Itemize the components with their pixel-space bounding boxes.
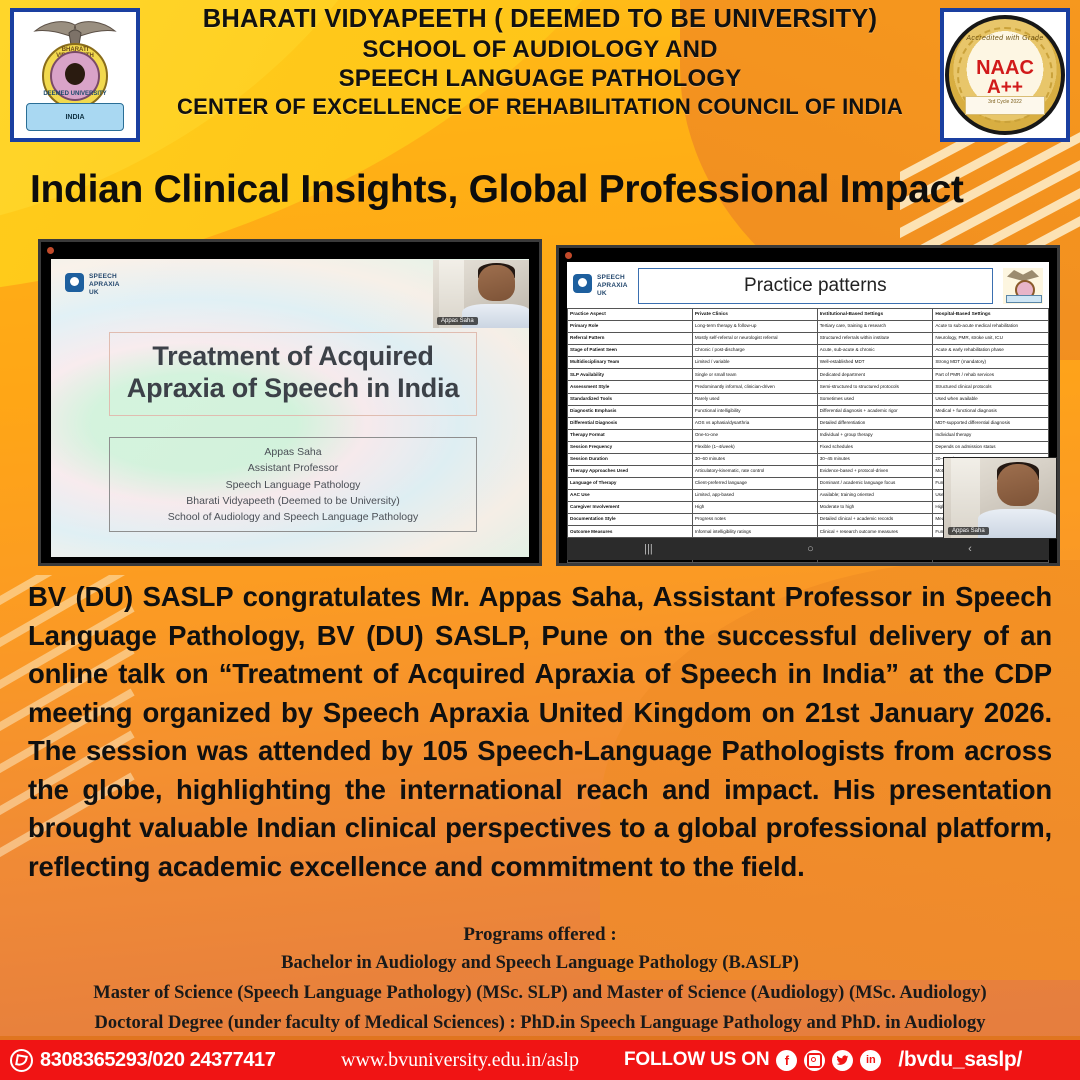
poster-footer: 8308365293/020 24377417 www.bvuniversity… <box>0 1040 1080 1080</box>
webcam-person-body <box>978 509 1057 538</box>
bharati-vidyapeeth-seal-icon <box>1003 268 1043 304</box>
right-presentation-screenshot: SPEECH APRAXIA UK Practice patterns Prac… <box>556 245 1060 566</box>
table-cell: Semi-structured to structured protocols <box>817 381 933 393</box>
webcam-person-head <box>997 464 1040 506</box>
table-header-cell: Hospital-Based Settings <box>933 309 1049 321</box>
speech-bubble-icon <box>65 273 84 292</box>
table-cell: One-to-one <box>692 429 817 441</box>
table-cell: Caregiver Involvement <box>568 502 693 514</box>
table-cell: Moderate to high <box>817 502 933 514</box>
presenter-designation: Assistant Professor <box>114 460 472 476</box>
table-cell: Diagnostic Emphasis <box>568 405 693 417</box>
table-row: Diagnostic EmphasisFunctional intelligib… <box>568 405 1049 417</box>
linkedin-icon[interactable]: in <box>860 1050 881 1071</box>
program-item-masters: Master of Science (Speech Language Patho… <box>40 979 1040 1009</box>
presenter-school: School of Audiology and Speech Language … <box>114 509 472 525</box>
twitter-bird-glyph <box>836 1054 849 1067</box>
footer-phone-number: 8308365293/020 24377417 <box>40 1049 276 1072</box>
footer-phone-block[interactable]: 8308365293/020 24377417 <box>0 1049 310 1072</box>
phone-icon <box>10 1049 33 1072</box>
bharati-vidyapeeth-seal-icon: BHARATI VIDYAPEETH DEEMED UNIVERSITY IND… <box>23 17 127 133</box>
table-cell: Assessment Style <box>568 381 693 393</box>
table-cell: Therapy Approaches Used <box>568 466 693 478</box>
presenter-name: Appas Saha <box>114 444 472 460</box>
table-cell: Rarely used <box>692 393 817 405</box>
table-cell: Used when available <box>933 393 1049 405</box>
table-cell: Low/subsidized <box>817 562 933 566</box>
naac-badge-icon: Accredited with Grade NAAC A++ 3rd Cycle… <box>945 15 1065 135</box>
header-line-3: SPEECH LANGUAGE PATHOLOGY <box>150 64 930 93</box>
table-cell: Differential Diagnosis <box>568 417 693 429</box>
slide-presenter-box: Appas Saha Assistant Professor Speech La… <box>109 437 477 532</box>
table-cell: Detailed differentiation <box>817 417 933 429</box>
footer-follow-block: FOLLOW US ON f in /bvdu_saslp/ <box>610 1048 1022 1072</box>
table-header-cell: Practice Aspect <box>568 309 693 321</box>
table-cell: Acute to sub-acute medical rehabilitatio… <box>933 321 1049 333</box>
table-header-cell: Private Clinics <box>692 309 817 321</box>
table-cell: Session Frequency <box>568 441 693 453</box>
table-cell: Session Duration <box>568 453 693 465</box>
naac-scroll-text: 3rd Cycle 2022 <box>965 96 1045 115</box>
table-cell: Limited, app-based <box>692 490 817 502</box>
header-line-2: SCHOOL OF AUDIOLOGY AND <box>150 35 930 64</box>
table-cell: Dedicated department <box>817 369 933 381</box>
table-cell: Individual + group therapy <box>817 429 933 441</box>
table-cell: Flexible (1–4/week) <box>692 441 817 453</box>
webcam-door <box>951 458 980 538</box>
table-cell: Clinical + research outcome measures <box>817 526 933 538</box>
table-cell: Part of PMR / rehab services <box>933 369 1049 381</box>
speech-apraxia-uk-logo: SPEECH APRAXIA UK <box>573 274 628 298</box>
header-line-4: CENTER OF EXCELLENCE OF REHABILITATION C… <box>150 94 930 121</box>
table-cell: AOS vs aphasia/dysarthria <box>692 417 817 429</box>
right-slide-header: SPEECH APRAXIA UK Practice patterns <box>567 262 1049 308</box>
university-logo-frame: BHARATI VIDYAPEETH DEEMED UNIVERSITY IND… <box>10 8 140 142</box>
left-screenshot-topbar <box>41 242 539 259</box>
table-cell: Stage of Patient Seen <box>568 345 693 357</box>
poster-header: BHARATI VIDYAPEETH DEEMED UNIVERSITY IND… <box>0 0 1080 145</box>
naac-top-text: Accredited with Grade <box>949 35 1061 42</box>
programs-offered-section: Programs offered : Bachelor in Audiology… <box>40 920 1040 1039</box>
home-button-icon[interactable]: ○ <box>807 543 814 555</box>
presenter-webcam-tile: Appas Saha <box>433 260 529 328</box>
header-line-1: BHARATI VIDYAPEETH ( DEEMED TO BE UNIVER… <box>150 4 930 35</box>
table-cell: SLP Availability <box>568 369 693 381</box>
presenter-department: Speech Language Pathology <box>114 477 472 493</box>
webcam-nameplate: Appas Saha <box>948 527 989 535</box>
table-row: SLP AvailabilitySingle or small teamDedi… <box>568 369 1049 381</box>
program-item-doctoral: Doctoral Degree (under faculty of Medica… <box>40 1009 1040 1039</box>
table-cell: Evidence-based + protocol-driven <box>817 466 933 478</box>
table-cell: Long-term therapy & follow-up <box>692 321 817 333</box>
poster-main-title: Indian Clinical Insights, Global Profess… <box>30 160 1060 220</box>
table-cell: Differential diagnosis + academic rigor <box>817 405 933 417</box>
recording-indicator-icon <box>565 252 572 259</box>
table-cell: Documentation Style <box>568 514 693 526</box>
table-row: Cost to PatientHighest, session-basedLow… <box>568 562 1049 566</box>
slide-title-box: Treatment of Acquired Apraxia of Speech … <box>109 332 477 416</box>
table-cell: Language of Therapy <box>568 478 693 490</box>
table-cell: Single or small team <box>692 369 817 381</box>
right-screenshot-topbar <box>559 248 1057 262</box>
table-cell: Therapy Format <box>568 429 693 441</box>
table-row: Stage of Patient SeenChronic / post-disc… <box>568 345 1049 357</box>
table-cell: Functional intelligibility <box>692 405 817 417</box>
table-row: Session FrequencyFlexible (1–4/week)Fixe… <box>568 441 1049 453</box>
instagram-icon[interactable] <box>804 1050 825 1071</box>
table-cell: Tertiary care, training & research <box>817 321 933 333</box>
table-cell: Medical + functional diagnosis <box>933 405 1049 417</box>
seal-ribbon: INDIA <box>26 103 124 131</box>
table-cell: Dominant / academic language focus <box>817 478 933 490</box>
table-cell: Mostly self-referral or neurologist refe… <box>692 333 817 345</box>
table-cell: Neurology, PMR, stroke unit, ICU <box>933 333 1049 345</box>
naac-logo-frame: Accredited with Grade NAAC A++ 3rd Cycle… <box>940 8 1070 142</box>
table-row: Referral PatternMostly self-referral or … <box>568 333 1049 345</box>
table-cell: Fixed schedules <box>817 441 933 453</box>
seal-arc-bottom: DEEMED UNIVERSITY <box>38 91 112 97</box>
slide-title-line-2: Apraxia of Speech in India <box>116 373 470 405</box>
webcam-person-head <box>478 265 514 300</box>
table-cell: Individual therapy <box>933 429 1049 441</box>
table-cell: Multidisciplinary Team <box>568 357 693 369</box>
table-cell: Detailed clinical + academic records <box>817 514 933 526</box>
speech-apraxia-uk-logo: SPEECH APRAXIA UK <box>65 273 120 297</box>
footer-website-url[interactable]: www.bvuniversity.edu.in/aslp <box>310 1049 610 1072</box>
recording-indicator-icon <box>47 247 54 254</box>
table-cell: 30–60 minutes <box>692 453 817 465</box>
android-navigation-bar: ||| ○ ‹ <box>567 538 1049 560</box>
table-cell: Highest, session-based <box>692 562 817 566</box>
table-row: Assessment StylePredominantly informal, … <box>568 381 1049 393</box>
table-row: Therapy FormatOne-to-oneIndividual + gro… <box>568 429 1049 441</box>
seal-center <box>65 63 85 85</box>
program-item-bachelor: Bachelor in Audiology and Speech Languag… <box>40 949 1040 979</box>
table-cell: Strong MDT (mandatory) <box>933 357 1049 369</box>
twitter-icon[interactable] <box>832 1050 853 1071</box>
table-cell: Structured clinical protocols <box>933 381 1049 393</box>
table-cell: Referral Pattern <box>568 333 693 345</box>
table-header-cell: Institutional-Based Settings <box>817 309 933 321</box>
table-cell: Client-preferred language <box>692 478 817 490</box>
table-header-row: Practice AspectPrivate ClinicsInstitutio… <box>568 309 1049 321</box>
table-cell: Well-established MDT <box>817 357 933 369</box>
speech-apraxia-uk-wordmark: SPEECH APRAXIA UK <box>597 274 628 298</box>
table-cell: Structured referrals within institute <box>817 333 933 345</box>
webcam-nameplate: Appas Saha <box>437 317 478 325</box>
table-cell: Articulatory-kinematic, rate control <box>692 466 817 478</box>
table-cell: Chronic / post-discharge <box>692 345 817 357</box>
table-cell: Depends on admission status <box>933 441 1049 453</box>
announcement-body-text: BV (DU) SASLP congratulates Mr. Appas Sa… <box>28 578 1052 886</box>
table-cell: Predominantly informal, clinician-driven <box>692 381 817 393</box>
table-cell: Acute, sub-acute & chronic <box>817 345 933 357</box>
poster-canvas: BHARATI VIDYAPEETH DEEMED UNIVERSITY IND… <box>0 0 1080 1080</box>
table-row: Standardized ToolsRarely usedSometimes u… <box>568 393 1049 405</box>
table-cell: Primary Role <box>568 321 693 333</box>
back-button-icon[interactable]: ‹ <box>968 543 972 555</box>
table-cell: Sometimes used <box>817 393 933 405</box>
practice-patterns-title: Practice patterns <box>638 268 993 304</box>
left-presentation-screenshot: SPEECH APRAXIA UK Treatment of Acquired … <box>38 239 542 566</box>
seal-ribbon <box>1006 295 1042 303</box>
table-cell: Acute & early rehabilitation phase <box>933 345 1049 357</box>
table-cell: Free / subsidized <box>933 562 1049 566</box>
table-cell: Standardized Tools <box>568 393 693 405</box>
follow-us-label: FOLLOW US ON <box>624 1049 769 1071</box>
table-cell: MDT-supported differential diagnosis <box>933 417 1049 429</box>
programs-heading: Programs offered : <box>40 920 1040 949</box>
table-cell: Available; training oriented <box>817 490 933 502</box>
table-cell: High <box>692 502 817 514</box>
table-row: Differential DiagnosisAOS vs aphasia/dys… <box>568 417 1049 429</box>
presenter-webcam-tile: Appas Saha <box>943 457 1057 539</box>
table-cell: Cost to Patient <box>568 562 693 566</box>
table-cell: Progress notes <box>692 514 817 526</box>
header-title-block: BHARATI VIDYAPEETH ( DEEMED TO BE UNIVER… <box>150 4 930 120</box>
speech-bubble-icon <box>573 274 592 293</box>
table-row: Primary RoleLong-term therapy & follow-u… <box>568 321 1049 333</box>
table-cell: AAC Use <box>568 490 693 502</box>
facebook-icon[interactable]: f <box>776 1050 797 1071</box>
speech-apraxia-uk-wordmark: SPEECH APRAXIA UK <box>89 273 120 297</box>
table-cell: Limited / variable <box>692 357 817 369</box>
slide-title-line-1: Treatment of Acquired <box>116 341 470 373</box>
table-cell: Informal intelligibility ratings <box>692 526 817 538</box>
recents-button-icon[interactable]: ||| <box>644 543 653 555</box>
footer-social-handle[interactable]: /bvdu_saslp/ <box>888 1048 1022 1072</box>
presenter-university: Bharati Vidyapeeth (Deemed to be Univers… <box>114 493 472 509</box>
table-cell: 30–45 minutes <box>817 453 933 465</box>
table-row: Multidisciplinary TeamLimited / variable… <box>568 357 1049 369</box>
table-cell: Outcome Measures <box>568 526 693 538</box>
